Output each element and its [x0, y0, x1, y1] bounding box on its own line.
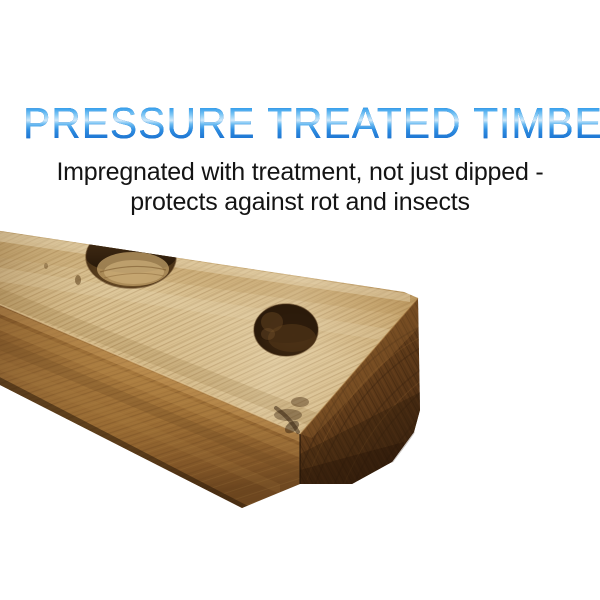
poster-root: PRESSURE TREATED TIMBER PRESSURE TREATED… [0, 0, 600, 600]
drilled-hole-front [254, 304, 318, 356]
page-subtitle: Impregnated with treatment, not just dip… [0, 157, 600, 217]
timber-illustration [0, 222, 600, 522]
page-subtitle-line-2: protects against rot and insects [0, 187, 600, 217]
page-title: PRESSURE TREATED TIMBER [0, 101, 600, 147]
page-title-text: PRESSURE TREATED TIMBER [23, 101, 600, 147]
page-subtitle-line-1: Impregnated with treatment, not just dip… [0, 157, 600, 187]
product-image [0, 222, 600, 522]
